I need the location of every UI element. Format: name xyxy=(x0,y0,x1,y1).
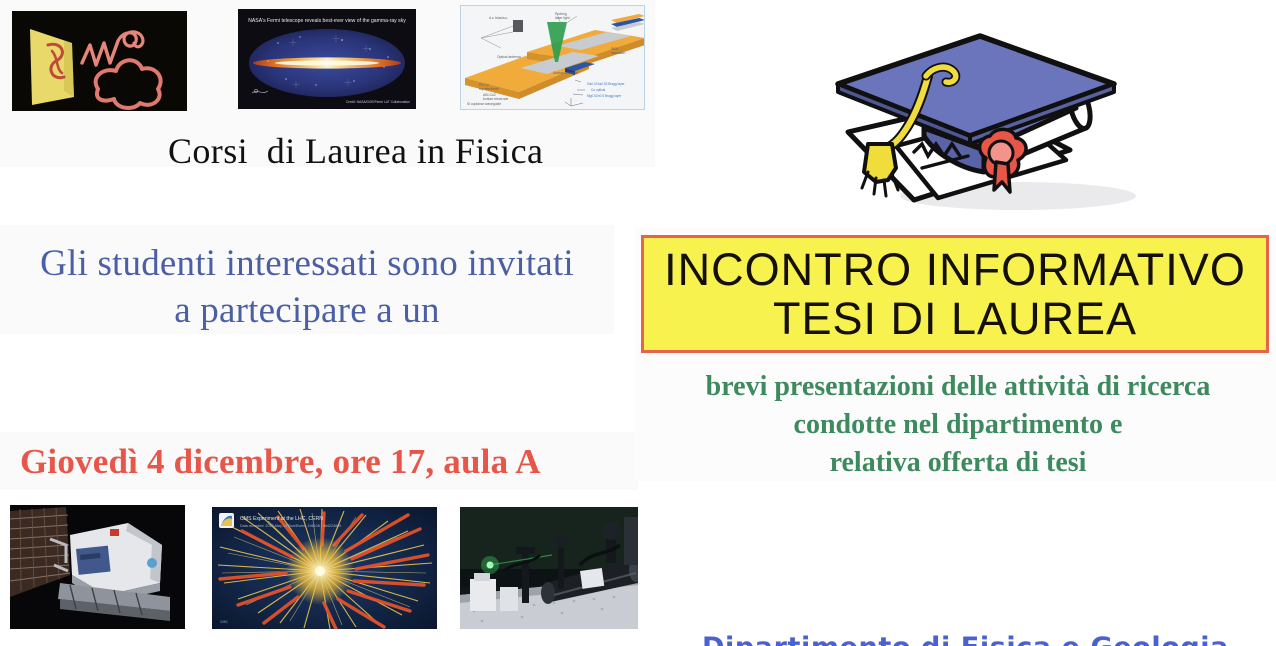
nanodevice-svg: d.c. bias/a.c. Probing laser light Optic… xyxy=(461,6,645,110)
event-date-line: Giovedì 4 dicembre, ore 17, aula A xyxy=(20,442,541,482)
description-text: brevi presentazioni delle attività di ri… xyxy=(640,368,1276,481)
description-line-1: brevi presentazioni delle attività di ri… xyxy=(640,368,1276,406)
fermi-credit: Credit: NASA/DOE/Fermi LAT Collaboration xyxy=(346,100,410,104)
svg-text:Optical antenna: Optical antenna xyxy=(497,55,521,59)
svg-text:d.c. bias/a.c.: d.c. bias/a.c. xyxy=(489,16,508,20)
cms-lhc-collision-event-photo: CMS Experiment at the LHC, CERN Data rec… xyxy=(212,507,437,629)
poster-root: NASA's Fermi telescope reveals best-ever… xyxy=(0,0,1276,646)
invitation-line-2: a partecipare a un xyxy=(0,287,614,334)
svg-text:top electrode: top electrode xyxy=(479,87,499,91)
description-line-3: relativa offerta di tesi xyxy=(640,444,1276,482)
brane-illustration-svg xyxy=(12,11,187,111)
description-line-2: condotte nel dipartimento e xyxy=(640,406,1276,444)
ams-iss-svg xyxy=(10,505,185,629)
fermi-inner-title: NASA's Fermi telescope reveals best-ever… xyxy=(248,18,406,24)
svg-text:Source contacts: Source contacts xyxy=(553,71,578,75)
cms-inner-title: CMS Experiment at the LHC, CERN xyxy=(240,516,323,522)
nanodevice-schematic-image: d.c. bias/a.c. Probing laser light Optic… xyxy=(460,5,645,110)
fermi-gamma-ray-sky-map-image: NASA's Fermi telescope reveals best-ever… xyxy=(238,9,416,109)
invitation-text: Gli studenti interessati sono invitati a… xyxy=(0,240,614,335)
svg-text:Ga0.47As0.53 Bragg layer: Ga0.47As0.53 Bragg layer xyxy=(587,82,626,86)
svg-text:Cu optical: Cu optical xyxy=(591,88,605,92)
banner-line-1: INCONTRO INFORMATIVO xyxy=(664,245,1246,295)
svg-text:laser light: laser light xyxy=(555,16,570,20)
optics-laboratory-setup-photo xyxy=(460,507,638,629)
graduation-cap-diploma-clipart xyxy=(818,10,1190,220)
fermi-sky-map-svg: NASA's Fermi telescope reveals best-ever… xyxy=(238,9,416,109)
svg-text:bottom electrode: bottom electrode xyxy=(483,97,508,101)
invitation-line-1: Gli studenti interessati sono invitati xyxy=(40,243,574,284)
page-title: Corsi di Laurea in Fisica xyxy=(168,130,543,172)
venue-address: Dipartimento di Fisica e Geologia edific… xyxy=(702,560,1229,646)
optics-lab-svg xyxy=(460,507,638,629)
graduation-cap-svg xyxy=(818,10,1190,220)
cms-event-svg: CMS Experiment at the LHC, CERN Data rec… xyxy=(212,507,437,629)
banner-line-2: TESI DI LAUREA xyxy=(773,294,1137,344)
svg-text:CMS: CMS xyxy=(220,620,228,624)
ams-detector-iss-photo xyxy=(10,505,185,629)
venue-line-1: Dipartimento di Fisica e Geologia xyxy=(702,630,1229,646)
cms-inner-subtitle: Data recorded: 2012-May-13 Run/Event: 19… xyxy=(240,524,341,528)
banner-incontro-informativo: INCONTRO INFORMATIVO TESI DI LAUREA xyxy=(641,235,1269,353)
svg-text:insulation: insulation xyxy=(611,51,625,55)
svg-text:Si coplanar waveguide: Si coplanar waveguide xyxy=(467,102,501,106)
string-theory-brane-image xyxy=(12,11,187,111)
svg-text:Mg0.5Zn0.5 Bragg layer: Mg0.5Zn0.5 Bragg layer xyxy=(587,94,622,98)
